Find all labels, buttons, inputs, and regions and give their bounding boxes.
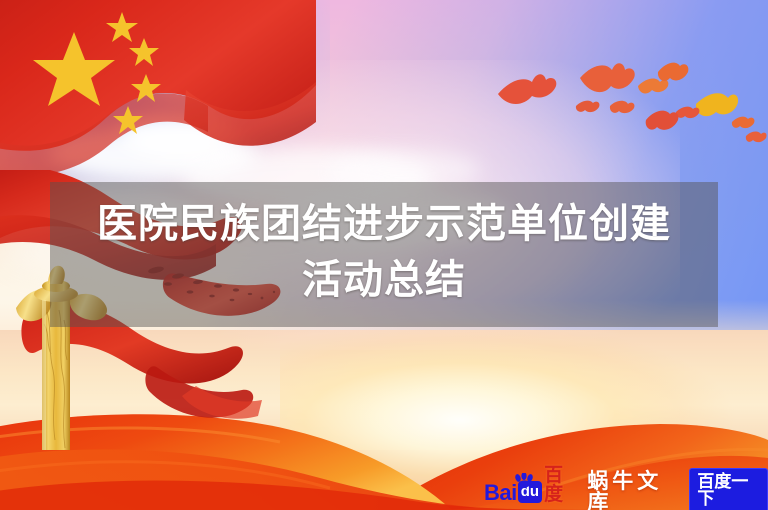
paw-print-icon — [514, 473, 536, 488]
site-name: 蜗牛文库 — [587, 470, 679, 510]
flying-birds — [480, 48, 768, 168]
baidu-search-button[interactable]: 百度一下 — [689, 468, 768, 510]
watermark-bar: Bai du 百度 蜗牛文库 百度一下 — [484, 477, 768, 505]
title-overlay: 医院民族团结进步示范单位创建 活动总结 — [50, 182, 718, 327]
baidu-logo[interactable]: Bai du 百度 — [484, 478, 574, 504]
page-title-line-2: 活动总结 — [302, 253, 466, 308]
baidu-logo-cn: 百度 — [544, 466, 574, 504]
poster-image: 医院民族团结进步示范单位创建 活动总结 Bai du 百度 蜗牛文库 百度一下 — [0, 0, 768, 510]
page-title-line-1: 医院民族团结进步示范单位创建 — [97, 197, 671, 252]
baidu-logo-bai: Bai — [484, 482, 517, 504]
